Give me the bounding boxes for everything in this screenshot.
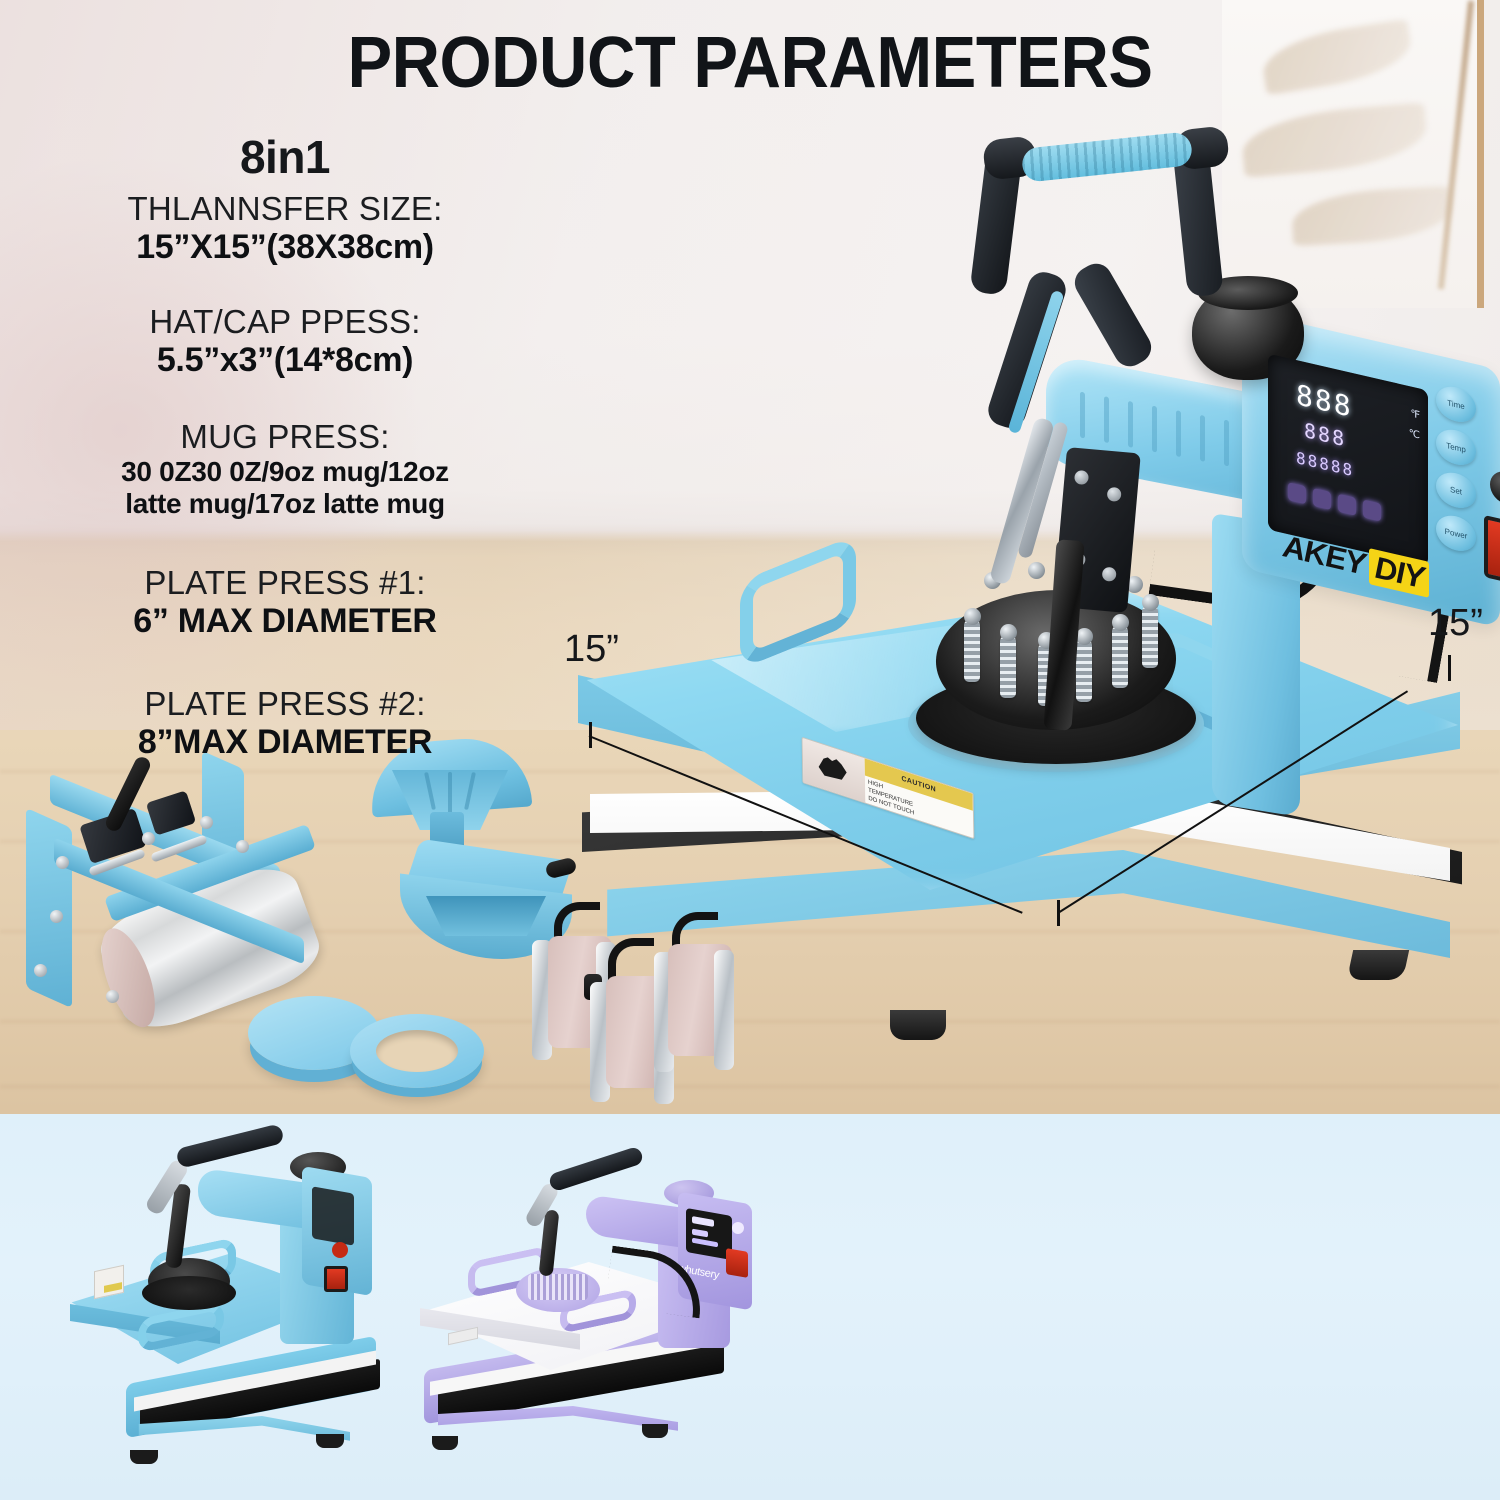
handle-leg-right [1069,258,1157,372]
spec-label: PLATE PRESS #1: [60,564,510,602]
variant-blue-indicator [332,1242,348,1258]
variant-blue [30,1134,390,1484]
mini-button-down-icon [1313,488,1331,510]
plate-ring [350,1014,484,1088]
spec-list: 8in1 THLANNSFER SIZE: 15”X15”(38X38cm) H… [60,130,510,772]
spec-item-plate-press-1: PLATE PRESS #1: 6” MAX DIAMETER [60,564,510,641]
mini-button-mode-icon [1363,499,1381,521]
variant-blue-switch [324,1266,348,1292]
spec-item-plate-press-2: PLATE PRESS #2: 8”MAX DIAMETER [60,685,510,762]
mini-button-up-icon [1288,482,1306,504]
spec-label: THLANNSFER SIZE: [60,190,510,228]
spec-value: 30 0Z30 0Z/9oz mug/12oz [60,456,510,488]
button-set[interactable]: Set [1436,469,1476,512]
button-power[interactable]: Power [1436,512,1476,555]
timer-readout: 888 [1304,418,1346,452]
spec-item-hat-cap-press: HAT/CAP PPESS: 5.5”x3”(14*8cm) [60,303,510,380]
plate-press-attachments [248,990,478,1100]
press-foot [1347,950,1409,980]
power-switch[interactable] [1484,515,1500,587]
press-foot [890,1010,946,1040]
spec-value-line2: latte mug/17oz latte mug [60,488,510,520]
mug-heating-wraps [530,900,750,1114]
brand-secondary: DIY [1369,548,1430,598]
mini-button-set-icon [1338,494,1356,516]
spec-item-mug-press: MUG PRESS: 30 0Z30 0Z/9oz mug/12oz latte… [60,418,510,520]
spec-label: PLATE PRESS #2: [60,685,510,723]
variant-purple: whutsery [410,1174,780,1500]
celsius-unit: ℃ [1409,428,1420,442]
dimension-label-depth: 15” [1428,602,1483,645]
aux-readout: 88888 [1296,448,1354,480]
panel-mini-buttons[interactable] [1288,482,1381,521]
variant-purple-switch [726,1248,748,1278]
control-buttons[interactable]: Time Temp Set Power [1436,383,1482,574]
spec-item-transfer-size: THLANNSFER SIZE: 15”X15”(38X38cm) [60,190,510,267]
spec-value: 6” MAX DIAMETER [60,602,510,641]
color-variants-panel: 2 colors whutsery [0,1114,1500,1500]
spec-value: 8”MAX DIAMETER [60,723,510,762]
spec-value: 15”X15”(38X38cm) [60,228,510,267]
page-title: PRODUCT PARAMETERS [53,22,1448,104]
handle-grip[interactable] [1021,131,1194,183]
dimension-label-width: 15” [564,628,619,671]
infographic-root: CAUTION HIGH TEMPERATURE DO NOT TOUCH [0,0,1500,1500]
spec-hero: 8in1 [60,130,510,184]
spec-label: MUG PRESS: [60,418,510,456]
spec-label: HAT/CAP PPESS: [60,303,510,341]
fahrenheit-unit: ℉ [1410,408,1420,421]
button-temp[interactable]: Temp [1436,426,1476,469]
product-photo-area: CAUTION HIGH TEMPERATURE DO NOT TOUCH [0,0,1500,1114]
spec-value: 5.5”x3”(14*8cm) [60,341,510,380]
